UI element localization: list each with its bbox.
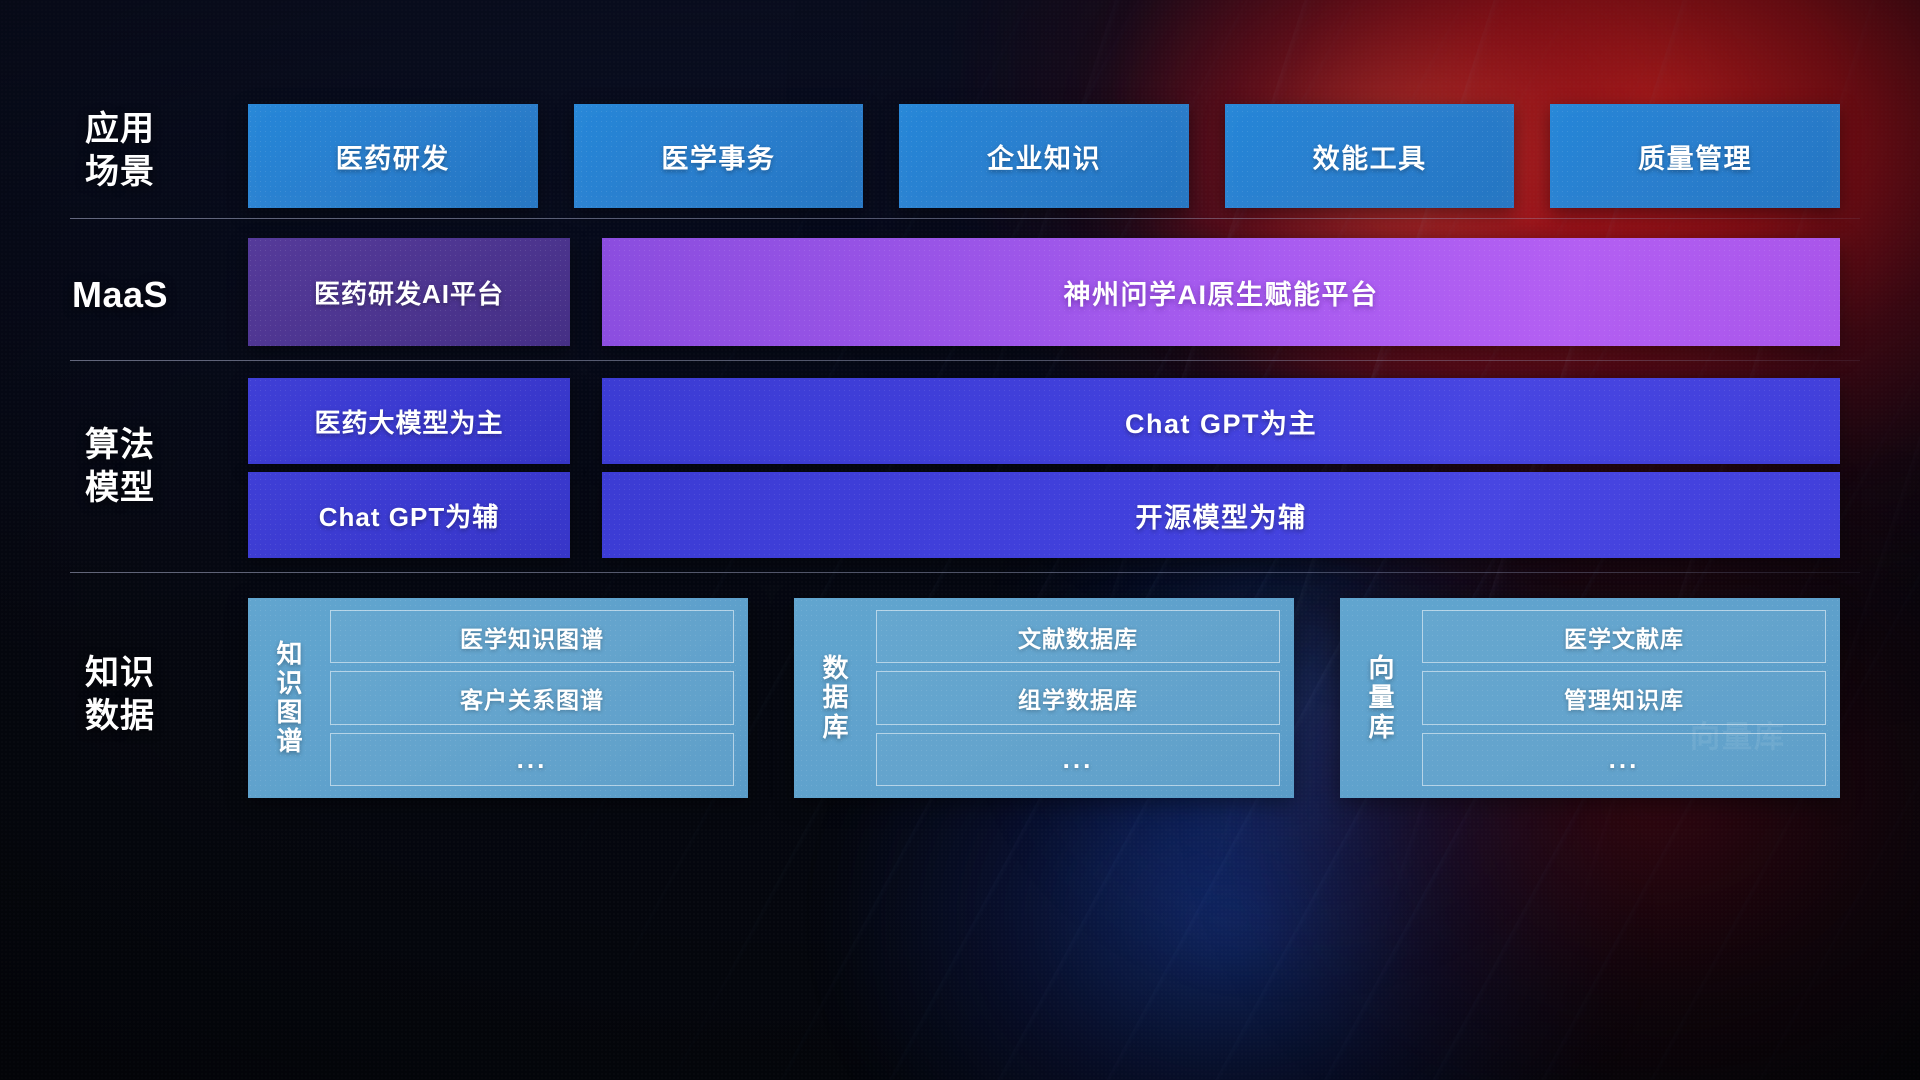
application-scenarios-row: 医药研发 医学事务 企业知识 效能工具 质量管理 <box>248 104 1840 208</box>
scenario-box-label: 质量管理 <box>1638 137 1752 176</box>
vertical-title-char: 数 <box>822 654 849 683</box>
scenario-box-label: 效能工具 <box>1313 137 1427 176</box>
knowledge-card-vertical-title: 向 量 库 <box>1350 610 1414 786</box>
knowledge-card-item-list: 医学知识图谱 客户关系图谱 ... <box>330 610 734 786</box>
row-label-application-scenarios: 应用 场景 <box>45 108 195 194</box>
knowledge-item-more[interactable]: ... <box>330 733 734 786</box>
row-label-line-2: 模型 <box>45 467 195 510</box>
knowledge-card-database[interactable]: 数 据 库 文献数据库 组学数据库 ... <box>794 598 1294 798</box>
maas-row: 医药研发AI平台 神州问学AI原生赋能平台 <box>248 238 1840 346</box>
scenario-box-label: 医学事务 <box>661 137 775 176</box>
knowledge-data-row: 知 识 图 谱 医学知识图谱 客户关系图谱 ... 数 据 库 <box>248 598 1840 798</box>
knowledge-item-literature-database[interactable]: 文献数据库 <box>876 610 1280 663</box>
algo-box-label: 医药大模型为主 <box>314 403 503 440</box>
knowledge-card-item-list: 医学文献库 管理知识库 ... <box>1422 610 1826 786</box>
divider-1 <box>70 218 1860 219</box>
algo-box-label: 开源模型为辅 <box>1136 496 1307 535</box>
row-label-line-1: 应用 <box>45 108 195 151</box>
algorithm-models-line-secondary: Chat GPT为辅 开源模型为辅 <box>248 472 1840 558</box>
architecture-diagram: 应用 场景 医药研发 医学事务 企业知识 效能工具 质量管理 MaaS 医药研发… <box>0 0 1920 1080</box>
algo-box-pharma-llm-primary[interactable]: 医药大模型为主 <box>248 378 570 464</box>
knowledge-card-vertical-title: 数 据 库 <box>804 610 868 786</box>
row-label-line-1: 知识 <box>45 652 195 695</box>
row-label-maas: MaaS <box>45 272 195 317</box>
row-label-knowledge-data: 知识 数据 <box>45 652 195 738</box>
vertical-title-char: 谱 <box>276 727 303 756</box>
divider-3 <box>70 572 1860 573</box>
knowledge-card-vector-store[interactable]: 向 量 库 医学文献库 管理知识库 ... 向量库 <box>1340 598 1840 798</box>
algorithm-models-row: 医药大模型为主 Chat GPT为主 Chat GPT为辅 开源模型为辅 <box>248 378 1840 558</box>
algorithm-models-line-primary: 医药大模型为主 Chat GPT为主 <box>248 378 1840 464</box>
row-label-text: MaaS <box>45 272 195 317</box>
knowledge-item-more[interactable]: ... <box>876 733 1280 786</box>
vertical-title-char: 据 <box>822 683 849 712</box>
scenario-box-quality-management[interactable]: 质量管理 <box>1550 104 1840 208</box>
algo-box-chatgpt-primary[interactable]: Chat GPT为主 <box>602 378 1840 464</box>
algo-box-label: Chat GPT为辅 <box>319 497 499 534</box>
algo-box-opensource-secondary[interactable]: 开源模型为辅 <box>602 472 1840 558</box>
knowledge-item-management-knowledge-store[interactable]: 管理知识库 <box>1422 671 1826 724</box>
vertical-title-char: 量 <box>1368 683 1395 712</box>
vertical-title-char: 图 <box>276 698 303 727</box>
knowledge-card-vertical-title: 知 识 图 谱 <box>258 610 322 786</box>
scenario-box-enterprise-knowledge[interactable]: 企业知识 <box>899 104 1189 208</box>
knowledge-item-medical-knowledge-graph[interactable]: 医学知识图谱 <box>330 610 734 663</box>
vertical-title-char: 库 <box>822 713 849 742</box>
divider-2 <box>70 360 1860 361</box>
knowledge-item-omics-database[interactable]: 组学数据库 <box>876 671 1280 724</box>
maas-box-drug-rd-ai-platform[interactable]: 医药研发AI平台 <box>248 238 570 346</box>
knowledge-item-customer-relation-graph[interactable]: 客户关系图谱 <box>330 671 734 724</box>
scenario-box-efficiency-tools[interactable]: 效能工具 <box>1225 104 1515 208</box>
algo-box-label: Chat GPT为主 <box>1125 402 1317 441</box>
scenario-box-label: 企业知识 <box>987 137 1101 176</box>
knowledge-item-medical-literature-store[interactable]: 医学文献库 <box>1422 610 1826 663</box>
scenario-box-drug-rd[interactable]: 医药研发 <box>248 104 538 208</box>
algo-box-chatgpt-secondary[interactable]: Chat GPT为辅 <box>248 472 570 558</box>
maas-box-label: 医药研发AI平台 <box>314 274 504 311</box>
vertical-title-char: 识 <box>276 669 303 698</box>
row-label-line-1: 算法 <box>45 424 195 467</box>
scenario-box-medical-affairs[interactable]: 医学事务 <box>574 104 864 208</box>
row-label-line-2: 数据 <box>45 695 195 738</box>
vertical-title-char: 向 <box>1368 654 1395 683</box>
knowledge-card-knowledge-graph[interactable]: 知 识 图 谱 医学知识图谱 客户关系图谱 ... <box>248 598 748 798</box>
vertical-title-char: 库 <box>1368 713 1395 742</box>
row-label-line-2: 场景 <box>45 151 195 194</box>
vertical-title-char: 知 <box>276 640 303 669</box>
maas-box-label: 神州问学AI原生赋能平台 <box>1064 273 1379 312</box>
knowledge-card-item-list: 文献数据库 组学数据库 ... <box>876 610 1280 786</box>
row-label-algorithm-models: 算法 模型 <box>45 424 195 510</box>
scenario-box-label: 医药研发 <box>336 137 450 176</box>
knowledge-item-more[interactable]: ... <box>1422 733 1826 786</box>
maas-box-shenzhou-wenxue-platform[interactable]: 神州问学AI原生赋能平台 <box>602 238 1840 346</box>
